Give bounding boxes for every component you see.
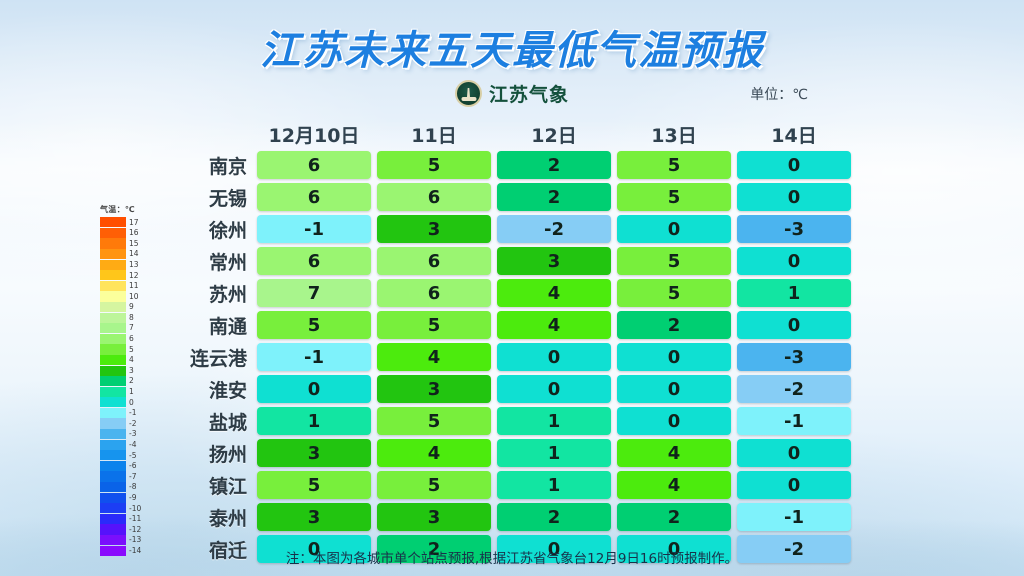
legend-label: 3 <box>129 367 134 375</box>
temperature-cell: 4 <box>497 311 611 339</box>
legend-label: 17 <box>129 219 139 227</box>
legend-row: 6 <box>100 334 156 345</box>
legend-swatch <box>100 344 126 354</box>
legend-row: 2 <box>100 376 156 387</box>
temperature-cell: 0 <box>497 375 611 403</box>
table-row: 泰州3322-1 <box>185 502 857 532</box>
temperature-cell: 3 <box>377 215 491 243</box>
legend-row: -9 <box>100 492 156 503</box>
temperature-cell: 1 <box>737 279 851 307</box>
legend-row: -12 <box>100 524 156 535</box>
legend-swatch <box>100 323 126 333</box>
legend-label: 13 <box>129 261 139 269</box>
temperature-cell: 3 <box>377 503 491 531</box>
forecast-table: 12月10日11日12日13日14日 南京65250无锡66250徐州-13-2… <box>185 118 857 566</box>
table-row: 苏州76451 <box>185 278 857 308</box>
row-city-label: 苏州 <box>185 280 257 307</box>
legend-row: 8 <box>100 312 156 323</box>
legend-row: -4 <box>100 439 156 450</box>
table-row: 南通55420 <box>185 310 857 340</box>
legend-swatch <box>100 260 126 270</box>
row-city-label: 镇江 <box>185 472 257 499</box>
temperature-cell: 0 <box>617 343 731 371</box>
table-row: 徐州-13-20-3 <box>185 214 857 244</box>
legend-row: 0 <box>100 397 156 408</box>
temperature-cell: 7 <box>257 279 371 307</box>
temperature-cell: 1 <box>257 407 371 435</box>
column-header-4: 14日 <box>737 121 851 148</box>
legend-row: 15 <box>100 238 156 249</box>
brand-logo: 江苏气象 <box>455 80 569 107</box>
legend-swatch <box>100 228 126 238</box>
legend-row: 7 <box>100 323 156 334</box>
legend-swatch <box>100 440 126 450</box>
legend-swatch <box>100 524 126 534</box>
legend-label: 10 <box>129 293 139 301</box>
temperature-cell: 6 <box>257 247 371 275</box>
legend-swatch <box>100 355 126 365</box>
legend-swatch <box>100 429 126 439</box>
temperature-cell: 3 <box>377 375 491 403</box>
legend-swatch <box>100 450 126 460</box>
row-city-label: 盐城 <box>185 408 257 435</box>
column-header-2: 12日 <box>497 121 611 148</box>
unit-label: 单位：℃ <box>750 84 808 104</box>
legend-label: -2 <box>129 420 136 428</box>
legend-label: 0 <box>129 399 134 407</box>
temperature-cell: -1 <box>737 407 851 435</box>
table-row: 常州66350 <box>185 246 857 276</box>
legend-row: 13 <box>100 259 156 270</box>
temperature-cell: 0 <box>737 183 851 211</box>
legend-swatch <box>100 387 126 397</box>
temperature-cell: 4 <box>377 439 491 467</box>
legend-swatch <box>100 514 126 524</box>
legend-label: -7 <box>129 473 136 481</box>
legend-label: -5 <box>129 452 136 460</box>
temperature-cell: 5 <box>617 151 731 179</box>
temperature-cell: 4 <box>617 439 731 467</box>
legend-label: -8 <box>129 483 136 491</box>
temperature-cell: 1 <box>497 471 611 499</box>
legend-swatch <box>100 418 126 428</box>
row-city-label: 南京 <box>185 152 257 179</box>
temperature-cell: -3 <box>737 343 851 371</box>
legend-label: -3 <box>129 430 136 438</box>
legend-label: -13 <box>129 536 141 544</box>
temperature-cell: 5 <box>617 279 731 307</box>
table-row: 连云港-1400-3 <box>185 342 857 372</box>
row-city-label: 扬州 <box>185 440 257 467</box>
temperature-cell: 0 <box>737 151 851 179</box>
legend-label: 5 <box>129 346 134 354</box>
temperature-cell: 1 <box>497 439 611 467</box>
legend-swatch <box>100 408 126 418</box>
temperature-cell: 5 <box>617 183 731 211</box>
legend-swatch <box>100 291 126 301</box>
temperature-cell: 2 <box>497 183 611 211</box>
temperature-cell: 0 <box>617 407 731 435</box>
legend-swatch <box>100 238 126 248</box>
temperature-cell: 4 <box>497 279 611 307</box>
legend-swatch <box>100 334 126 344</box>
temperature-cell: 6 <box>377 183 491 211</box>
legend-label: 11 <box>129 282 139 290</box>
legend-swatch <box>100 461 126 471</box>
legend-swatch <box>100 217 126 227</box>
table-row: 淮安0300-2 <box>185 374 857 404</box>
legend-label: -12 <box>129 526 141 534</box>
legend-row: 9 <box>100 302 156 313</box>
table-header-row: 12月10日11日12日13日14日 <box>185 118 857 150</box>
legend-label: -6 <box>129 462 136 470</box>
legend-label: 9 <box>129 303 134 311</box>
legend-row: 14 <box>100 249 156 260</box>
table-row: 扬州34140 <box>185 438 857 468</box>
legend-swatch <box>100 471 126 481</box>
temperature-legend: 气温：℃ 17161514131211109876543210-1-2-3-4-… <box>100 204 156 556</box>
table-row: 南京65250 <box>185 150 857 180</box>
legend-row: -3 <box>100 429 156 440</box>
temperature-cell: 2 <box>617 503 731 531</box>
legend-label: -1 <box>129 409 136 417</box>
legend-row: -8 <box>100 482 156 493</box>
legend-row: 1 <box>100 387 156 398</box>
legend-row: 5 <box>100 344 156 355</box>
temperature-cell: -2 <box>497 215 611 243</box>
column-header-1: 11日 <box>377 121 491 148</box>
temperature-cell: 0 <box>737 311 851 339</box>
temperature-cell: 5 <box>377 407 491 435</box>
weather-forecast-page: 江苏未来五天最低气温预报 江苏气象 单位：℃ 气温：℃ 171615141312… <box>0 0 1024 576</box>
temperature-cell: 6 <box>257 183 371 211</box>
row-city-label: 淮安 <box>185 376 257 403</box>
temperature-cell: -3 <box>737 215 851 243</box>
row-city-label: 徐州 <box>185 216 257 243</box>
table-row: 镇江55140 <box>185 470 857 500</box>
temperature-cell: 0 <box>737 471 851 499</box>
legend-swatch <box>100 493 126 503</box>
legend-swatch <box>100 535 126 545</box>
row-city-label: 南通 <box>185 312 257 339</box>
temperature-cell: -2 <box>737 375 851 403</box>
legend-row: 11 <box>100 281 156 292</box>
temperature-cell: 0 <box>737 439 851 467</box>
temperature-cell: 5 <box>257 311 371 339</box>
legend-title: 气温：℃ <box>100 204 156 215</box>
row-city-label: 常州 <box>185 248 257 275</box>
temperature-cell: 0 <box>617 375 731 403</box>
legend-label: 7 <box>129 324 134 332</box>
legend-label: 2 <box>129 377 134 385</box>
temperature-cell: 3 <box>257 439 371 467</box>
temperature-cell: 0 <box>737 247 851 275</box>
column-header-0: 12月10日 <box>257 121 371 148</box>
legend-label: -11 <box>129 515 141 523</box>
temperature-cell: 0 <box>617 215 731 243</box>
legend-row: -2 <box>100 418 156 429</box>
temperature-cell: 6 <box>257 151 371 179</box>
legend-swatch <box>100 503 126 513</box>
temperature-cell: 2 <box>497 151 611 179</box>
legend-label: 4 <box>129 356 134 364</box>
legend-row: 16 <box>100 228 156 239</box>
legend-label: -4 <box>129 441 136 449</box>
temperature-cell: 0 <box>257 375 371 403</box>
legend-swatch <box>100 366 126 376</box>
page-title: 江苏未来五天最低气温预报 <box>0 18 1024 76</box>
legend-row: -11 <box>100 514 156 525</box>
legend-label: -9 <box>129 494 136 502</box>
legend-row: 12 <box>100 270 156 281</box>
column-header-3: 13日 <box>617 121 731 148</box>
temperature-cell: 3 <box>257 503 371 531</box>
legend-row: 4 <box>100 355 156 366</box>
temperature-cell: -1 <box>257 343 371 371</box>
temperature-cell: 5 <box>377 471 491 499</box>
footnote: 注：本图为各城市单个站点预报,根据江苏省气象台12月9日16时预报制作。 <box>0 547 1024 567</box>
legend-row: -5 <box>100 450 156 461</box>
legend-label: 15 <box>129 240 139 248</box>
temperature-cell: 1 <box>497 407 611 435</box>
row-city-label: 连云港 <box>185 344 257 371</box>
legend-swatch <box>100 270 126 280</box>
legend-row: 10 <box>100 291 156 302</box>
legend-row: -1 <box>100 408 156 419</box>
table-body: 南京65250无锡66250徐州-13-20-3常州66350苏州76451南通… <box>185 150 857 564</box>
legend-swatch <box>100 482 126 492</box>
legend-label: 14 <box>129 250 139 258</box>
temperature-cell: -1 <box>257 215 371 243</box>
legend-swatch <box>100 397 126 407</box>
temperature-cell: 6 <box>377 279 491 307</box>
legend-swatch <box>100 281 126 291</box>
temperature-cell: 5 <box>377 311 491 339</box>
lighthouse-badge-icon <box>455 80 482 107</box>
legend-row: 3 <box>100 365 156 376</box>
table-row: 盐城1510-1 <box>185 406 857 436</box>
legend-scale: 17161514131211109876543210-1-2-3-4-5-6-7… <box>100 217 156 556</box>
row-city-label: 无锡 <box>185 184 257 211</box>
legend-label: 8 <box>129 314 134 322</box>
temperature-cell: -1 <box>737 503 851 531</box>
legend-swatch <box>100 249 126 259</box>
legend-label: -10 <box>129 505 141 513</box>
legend-row: -6 <box>100 461 156 472</box>
legend-row: 17 <box>100 217 156 228</box>
table-row: 无锡66250 <box>185 182 857 212</box>
legend-label: 1 <box>129 388 134 396</box>
temperature-cell: 4 <box>377 343 491 371</box>
legend-swatch <box>100 376 126 386</box>
brand-name: 江苏气象 <box>489 80 569 107</box>
temperature-cell: 5 <box>257 471 371 499</box>
legend-label: 12 <box>129 272 139 280</box>
temperature-cell: 5 <box>617 247 731 275</box>
legend-swatch <box>100 313 126 323</box>
temperature-cell: 0 <box>497 343 611 371</box>
legend-label: 6 <box>129 335 134 343</box>
legend-row: -7 <box>100 471 156 482</box>
legend-row: -10 <box>100 503 156 514</box>
temperature-cell: 6 <box>377 247 491 275</box>
legend-swatch <box>100 302 126 312</box>
temperature-cell: 3 <box>497 247 611 275</box>
row-city-label: 泰州 <box>185 504 257 531</box>
temperature-cell: 4 <box>617 471 731 499</box>
legend-label: 16 <box>129 229 139 237</box>
temperature-cell: 2 <box>617 311 731 339</box>
legend-row: -13 <box>100 535 156 546</box>
temperature-cell: 2 <box>497 503 611 531</box>
temperature-cell: 5 <box>377 151 491 179</box>
